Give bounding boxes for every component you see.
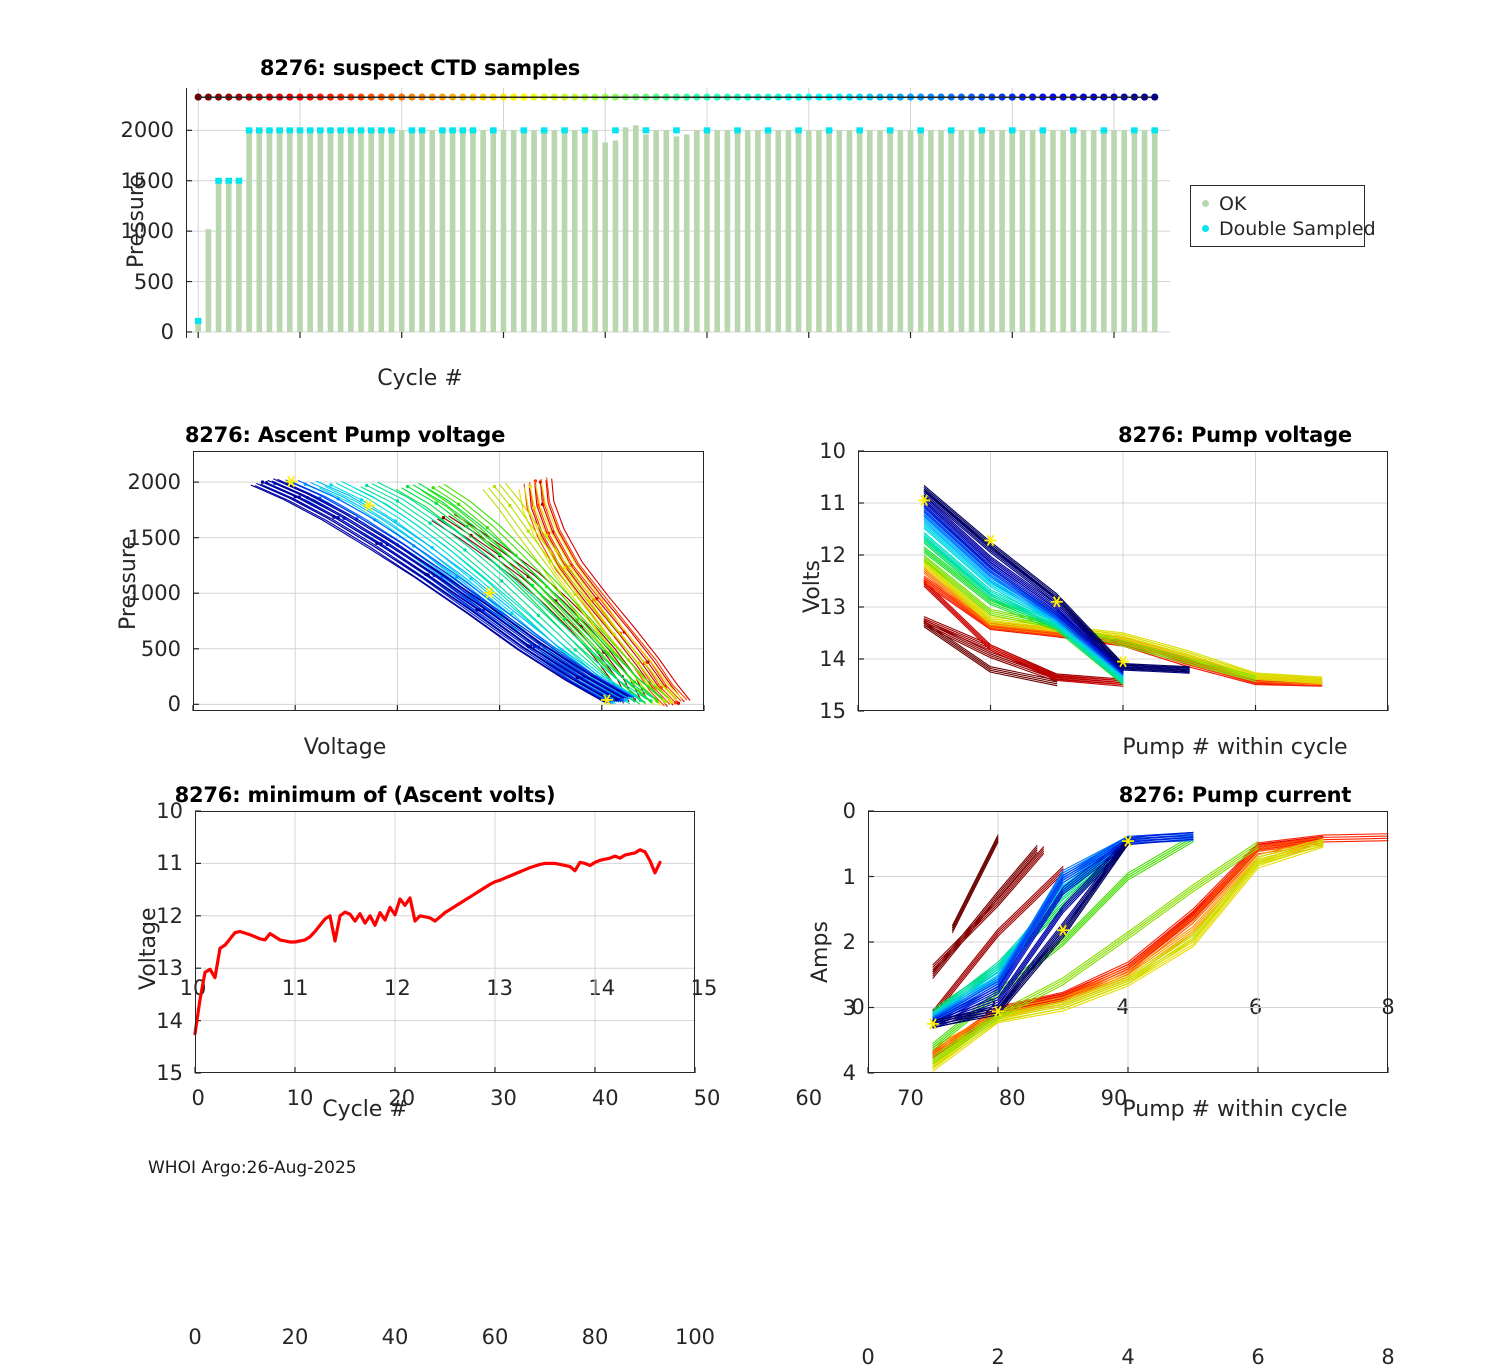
minv-title: 8276: minimum of (Ascent volts) — [0, 783, 740, 807]
y-tick-label: 10 — [776, 439, 846, 463]
panel-ascent-pump-voltage: 8276: Ascent Pump voltage 05001000150020… — [0, 415, 750, 745]
y-tick-label: 15 — [776, 699, 846, 723]
y-tick-label: 0 — [104, 320, 174, 344]
x-tick-label: 8 — [1381, 1345, 1394, 1369]
ascent-axes — [193, 451, 704, 711]
y-tick-label: 11 — [776, 491, 846, 515]
pumpv-xlabel: Pump # within cycle — [860, 735, 1500, 760]
y-tick-label: 11 — [113, 851, 183, 875]
y-tick-label: 4 — [786, 1061, 856, 1085]
x-tick-label: 0 — [861, 1345, 874, 1369]
panel-suspect-ctd-samples: 8276: suspect CTD samples 05001000150020… — [0, 48, 1500, 393]
panel-pump-current: 8276: Pump current 01234 02468 Amps Pump… — [750, 775, 1500, 1105]
ascent-xlabel: Voltage — [0, 735, 720, 760]
pumpc-axis-frame — [868, 811, 1388, 1073]
panel-pump-voltage: 8276: Pump voltage 101112131415 02468 Vo… — [750, 415, 1500, 745]
x-tick-label: 60 — [482, 1325, 509, 1349]
minv-ylabel: Voltage — [136, 907, 161, 990]
y-tick-label: 0 — [786, 799, 856, 823]
x-tick-label: 40 — [382, 1325, 409, 1349]
pumpc-xlabel: Pump # within cycle — [860, 1097, 1500, 1122]
y-tick-label: 3 — [786, 996, 856, 1020]
x-tick-label: 4 — [1121, 1345, 1134, 1369]
legend-dot-ok — [1202, 200, 1209, 207]
legend-label-ok: OK — [1219, 193, 1246, 215]
legend-label-double-sampled: Double Sampled — [1219, 218, 1376, 240]
pumpc-ylabel: Amps — [808, 921, 833, 983]
x-tick-label: 2 — [991, 1345, 1004, 1369]
y-tick-label: 2000 — [104, 118, 174, 142]
y-tick-label: 500 — [104, 270, 174, 294]
y-tick-label: 1 — [786, 865, 856, 889]
y-tick-label: 14 — [776, 647, 846, 671]
x-tick-label: 0 — [188, 1325, 201, 1349]
ascent-title: 8276: Ascent Pump voltage — [0, 423, 720, 447]
pumpv-axes — [858, 451, 1388, 711]
y-tick-label: 15 — [113, 1061, 183, 1085]
suspect-ylabel: Pressure — [124, 174, 149, 268]
suspect-legend: OK Double Sampled — [1190, 185, 1365, 247]
legend-row-ok: OK — [1198, 191, 1354, 216]
ascent-axis-frame — [193, 451, 704, 711]
suspect-axis-frame — [186, 88, 1170, 338]
y-tick-label: 14 — [113, 1009, 183, 1033]
suspect-axes — [186, 88, 1170, 338]
legend-row-double-sampled: Double Sampled — [1198, 216, 1354, 241]
minv-axis-frame — [195, 811, 695, 1073]
y-tick-label: 2000 — [111, 470, 181, 494]
minv-axes — [195, 811, 695, 1073]
suspect-xlabel: Cycle # — [0, 366, 1170, 391]
x-tick-label: 6 — [1251, 1345, 1264, 1369]
x-tick-label: 20 — [282, 1325, 309, 1349]
minv-xlabel: Cycle # — [0, 1097, 740, 1122]
x-tick-label: 100 — [675, 1325, 715, 1349]
suspect-title: 8276: suspect CTD samples — [0, 56, 1170, 80]
pumpv-ylabel: Volts — [800, 560, 825, 613]
panel-min-ascent-volts: 8276: minimum of (Ascent volts) 10111213… — [0, 775, 750, 1105]
footer-credit: WHOI Argo:26-Aug-2025 — [148, 1158, 357, 1178]
pumpc-title: 8276: Pump current — [860, 783, 1500, 807]
y-tick-label: 0 — [111, 692, 181, 716]
pumpv-title: 8276: Pump voltage — [860, 423, 1500, 447]
y-tick-label: 500 — [111, 637, 181, 661]
legend-dot-double-sampled — [1202, 225, 1209, 232]
pumpv-axis-frame — [858, 451, 1388, 711]
pumpc-axes — [868, 811, 1388, 1073]
ascent-ylabel: Pressure — [116, 536, 141, 630]
x-tick-label: 80 — [582, 1325, 609, 1349]
y-tick-label: 10 — [113, 799, 183, 823]
